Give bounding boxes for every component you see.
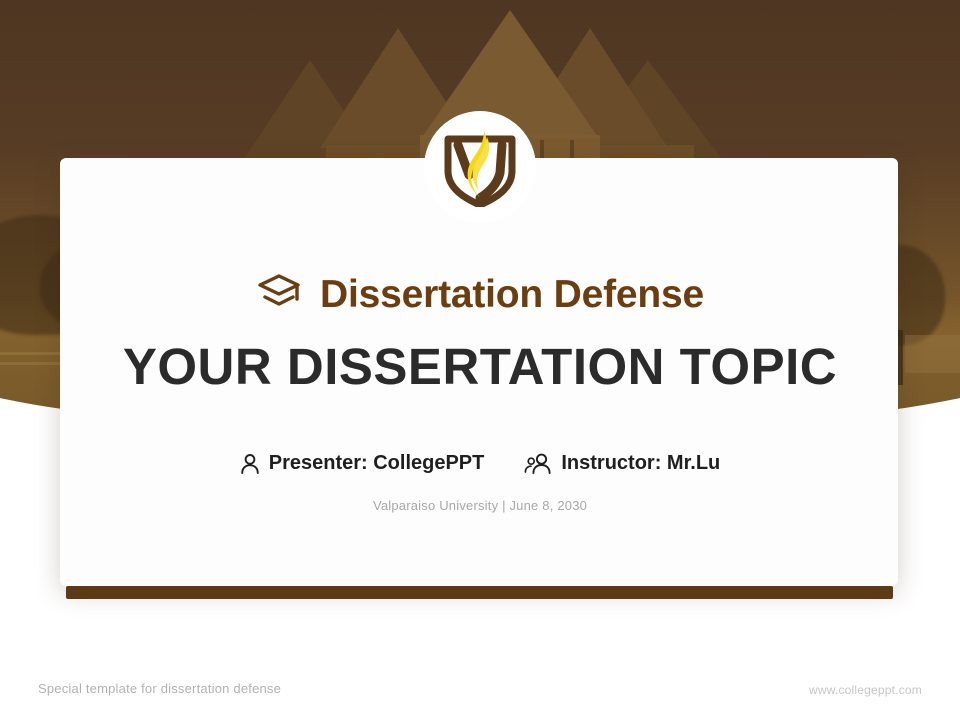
footer-note: Special template for dissertation defens… bbox=[38, 681, 281, 696]
footer-website: www.collegeppt.com bbox=[809, 683, 922, 697]
person-icon bbox=[240, 453, 260, 475]
university-logo-badge bbox=[424, 111, 536, 223]
instructor-credit: Instructor: Mr.Lu bbox=[524, 452, 720, 475]
eyebrow-title: Dissertation Defense bbox=[320, 275, 704, 314]
shield-flame-logo-icon bbox=[442, 127, 518, 207]
page-title: YOUR DISSERTATION TOPIC bbox=[0, 339, 960, 395]
university-date-line: Valparaiso University | June 8, 2030 bbox=[0, 498, 960, 513]
headline-row: Dissertation Defense bbox=[0, 272, 960, 317]
presentation-slide: Dissertation Defense YOUR DISSERTATION T… bbox=[0, 0, 960, 720]
graduation-cap-icon bbox=[256, 272, 302, 317]
card-bottom-accent-bar bbox=[66, 586, 893, 599]
credits-row: Presenter: CollegePPT Instructor: Mr.Lu bbox=[0, 452, 960, 475]
people-group-icon bbox=[524, 453, 552, 475]
presenter-credit: Presenter: CollegePPT bbox=[240, 452, 485, 475]
instructor-label: Instructor: Mr.Lu bbox=[561, 452, 720, 475]
presenter-label: Presenter: CollegePPT bbox=[269, 452, 485, 475]
